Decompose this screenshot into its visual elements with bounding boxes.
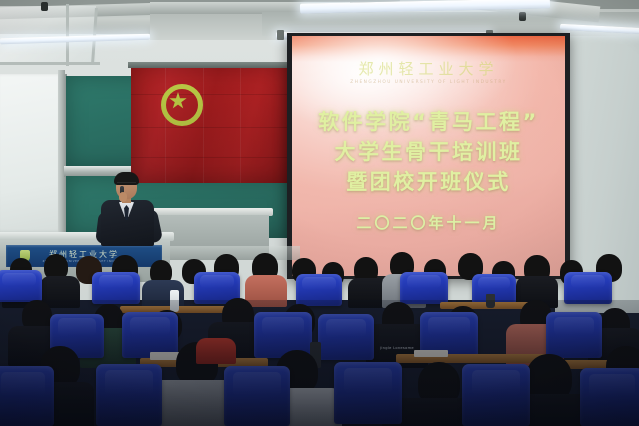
seat: [224, 366, 290, 426]
seat: [334, 362, 402, 424]
speaker-hand: [119, 192, 127, 202]
ceiling-camera-icon: [41, 2, 48, 11]
audience-area: jingle Lonesome: [0, 250, 639, 426]
thermos-cup: [486, 294, 495, 308]
seat: [546, 312, 602, 358]
seat: [0, 270, 42, 302]
seat: [96, 364, 162, 426]
window-sill: [0, 62, 100, 65]
handout-paper: [414, 350, 448, 357]
audience-torso: [245, 275, 287, 307]
seat: [580, 368, 639, 426]
seat: [318, 314, 374, 360]
seat: [296, 274, 342, 306]
screen-vignette: [292, 36, 565, 276]
window-mullion-1: [66, 4, 69, 66]
seat: [462, 364, 530, 426]
water-bottle: [170, 290, 179, 312]
whiteboard: [0, 74, 62, 232]
lecture-hall-photo: 郑州轻工业大学 ZHENGZHOU UNIVERSITY OF LIGHT IN…: [0, 0, 639, 426]
seat: [400, 272, 448, 304]
flag-shading: [131, 66, 287, 183]
flag-rod: [128, 62, 290, 68]
seat: [564, 272, 612, 304]
audience-torso: [196, 338, 236, 364]
seat: [0, 366, 54, 426]
seat: [92, 272, 140, 304]
light-bracket-left: [277, 30, 284, 40]
projection-screen: 郑州轻工业大学 ZHENGZHOU UNIVERSITY OF LIGHT IN…: [292, 36, 565, 276]
ceiling-camera-icon-2: [519, 12, 526, 21]
